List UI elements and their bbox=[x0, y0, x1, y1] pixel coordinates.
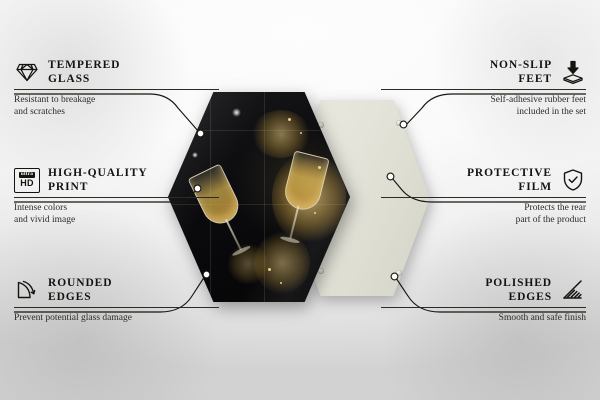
feature-polished-edges: POLISHED EDGES Smooth and safe finish bbox=[381, 276, 586, 324]
feature-desc-line2: and vivid image bbox=[14, 214, 219, 226]
feature-title: ROUNDED EDGES bbox=[48, 276, 112, 304]
feature-title: POLISHED EDGES bbox=[485, 276, 552, 304]
feature-title-line2: FEET bbox=[490, 72, 552, 86]
feature-title-line2: EDGES bbox=[485, 290, 552, 304]
feature-desc-line2: part of the product bbox=[381, 214, 586, 226]
feature-non-slip-feet: NON-SLIP FEET Self-adhesive rubber feet … bbox=[381, 58, 586, 118]
feature-desc-line1: Intense colors bbox=[14, 202, 219, 214]
feature-description: Resistant to breakage and scratches bbox=[14, 94, 219, 118]
feature-title-line2: GLASS bbox=[48, 72, 120, 86]
feature-title-line2: FILM bbox=[467, 180, 552, 194]
feature-description: Self-adhesive rubber feet included in th… bbox=[381, 94, 586, 118]
feature-title: HIGH-QUALITY PRINT bbox=[48, 166, 148, 194]
feature-description: Protects the rear part of the product bbox=[381, 202, 586, 226]
feature-title: PROTECTIVE FILM bbox=[467, 166, 552, 194]
feature-desc-line1: Self-adhesive rubber feet bbox=[381, 94, 586, 106]
feature-desc-line2: and scratches bbox=[14, 106, 219, 118]
feature-protective-film: PROTECTIVE FILM Protects the rear part o… bbox=[381, 166, 586, 226]
feature-desc-line2: included in the set bbox=[381, 106, 586, 118]
feature-title: TEMPERED GLASS bbox=[48, 58, 120, 86]
feature-title-line1: HIGH-QUALITY bbox=[48, 167, 148, 179]
shield-check-icon bbox=[560, 167, 586, 193]
feature-title-line1: NON-SLIP bbox=[490, 59, 552, 71]
feature-description: Smooth and safe finish bbox=[381, 312, 586, 324]
divider bbox=[14, 197, 219, 198]
feature-description: Prevent potential glass damage bbox=[14, 312, 219, 324]
screw-hole bbox=[396, 120, 402, 126]
feature-title-line2: EDGES bbox=[48, 290, 112, 304]
feature-desc-line1: Prevent potential glass damage bbox=[14, 312, 219, 324]
ultra-hd-icon: ultra HD bbox=[14, 167, 40, 193]
divider bbox=[381, 307, 586, 308]
feature-rounded-edges: ROUNDED EDGES Prevent potential glass da… bbox=[14, 276, 219, 324]
feature-title-line1: TEMPERED bbox=[48, 59, 120, 71]
feature-title-line1: POLISHED bbox=[485, 277, 552, 289]
feature-title-line1: PROTECTIVE bbox=[467, 167, 552, 179]
feature-desc-line1: Smooth and safe finish bbox=[381, 312, 586, 324]
divider bbox=[381, 89, 586, 90]
feature-tempered-glass: TEMPERED GLASS Resistant to breakage and… bbox=[14, 58, 219, 118]
feature-desc-line1: Resistant to breakage bbox=[14, 94, 219, 106]
hatched-triangle-icon bbox=[560, 277, 586, 303]
feature-desc-line1: Protects the rear bbox=[381, 202, 586, 214]
feature-high-quality-print: ultra HD HIGH-QUALITY PRINT Intense colo… bbox=[14, 166, 219, 226]
divider bbox=[14, 89, 219, 90]
infographic-canvas: TEMPERED GLASS Resistant to breakage and… bbox=[0, 0, 600, 400]
rounded-corner-icon bbox=[14, 277, 40, 303]
diamond-icon bbox=[14, 59, 40, 85]
divider bbox=[14, 307, 219, 308]
feature-title-line1: ROUNDED bbox=[48, 277, 112, 289]
feature-description: Intense colors and vivid image bbox=[14, 202, 219, 226]
divider bbox=[381, 197, 586, 198]
feature-title: NON-SLIP FEET bbox=[490, 58, 552, 86]
ultra-hd-icon-bottom-text: HD bbox=[20, 179, 34, 188]
press-down-foot-icon bbox=[560, 59, 586, 85]
feature-title-line2: PRINT bbox=[48, 180, 148, 194]
